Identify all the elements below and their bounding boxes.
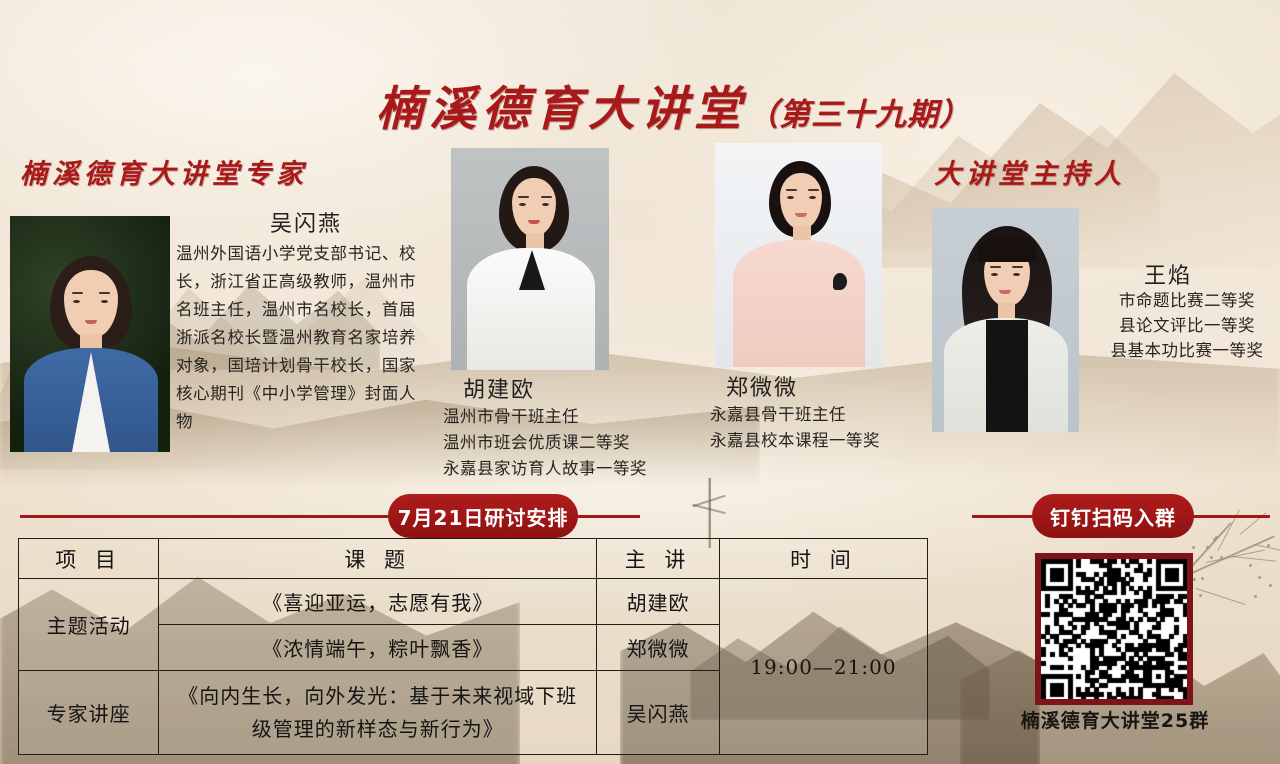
cell-item: 主题活动 [19,579,159,671]
cell-item: 专家讲座 [19,671,159,755]
qr-caption: 楠溪德育大讲堂25群 [990,706,1240,733]
cell-speaker: 郑微微 [597,625,720,671]
qr-banner-label: 钉钉扫码入群 [1032,494,1194,538]
credential-line: 温州市班会优质课二等奖 [443,430,693,456]
credential-line: 永嘉县校本课程一等奖 [710,428,940,454]
speaker-1-credentials: 温州市骨干班主任 温州市班会优质课二等奖 永嘉县家访育人故事一等奖 [443,404,693,482]
section-title-host: 大讲堂主持人 [934,152,1126,191]
credential-line: 温州市骨干班主任 [443,404,693,430]
table-header-row: 项 目 课 题 主 讲 时 间 [19,539,928,579]
host-name: 王焰 [1144,258,1192,290]
avatar-host [932,208,1079,432]
speaker-2-credentials: 永嘉县骨干班主任 永嘉县校本课程一等奖 [710,402,940,454]
schedule-table: 项 目 课 题 主 讲 时 间 主题活动 《喜迎亚运，志愿有我》 胡建欧 19:… [18,538,928,755]
qr-banner: 钉钉扫码入群 [960,494,1280,538]
page-title: 楠溪德育大讲堂（第三十九期） [376,70,1196,136]
avatar-expert [10,216,170,452]
credential-line: 县论文评比一等奖 [1094,313,1280,338]
cell-topic: 《向内生长，向外发光：基于未来视域下班级管理的新样态与新行为》 [159,671,597,755]
avatar-speaker-1 [451,148,609,370]
avatar-speaker-2 [715,143,882,367]
cell-topic: 《喜迎亚运，志愿有我》 [159,579,597,625]
section-title-expert: 楠溪德育大讲堂专家 [20,152,308,191]
credential-line: 永嘉县骨干班主任 [710,402,940,428]
qr-code-image[interactable] [1041,559,1187,699]
expert-name: 吴闪燕 [270,206,342,238]
header-item: 项 目 [19,539,159,579]
cell-speaker: 胡建欧 [597,579,720,625]
main-title-episode: （第三十九期） [747,97,971,133]
cell-time: 19:00—21:00 [719,579,927,755]
credential-line: 县基本功比赛一等奖 [1094,338,1280,363]
credential-line: 永嘉县家访育人故事一等奖 [443,456,693,482]
banner-rule-left [20,515,420,518]
schedule-banner-label: 7月21日研讨安排 [388,494,578,538]
main-title-text: 楠溪德育大讲堂 [376,82,747,137]
expert-bio: 温州外国语小学党支部书记、校长，浙江省正高级教师，温州市名班主任，温州市名校长，… [176,240,416,436]
host-credentials: 市命题比赛二等奖 县论文评比一等奖 县基本功比赛一等奖 [1094,288,1280,363]
cell-topic: 《浓情端午，粽叶飘香》 [159,625,597,671]
poster-canvas: 楠溪德育大讲堂（第三十九期） 楠溪德育大讲堂专家 大讲堂主持人 [0,0,1280,764]
schedule-banner: 7月21日研讨安排 [0,494,660,538]
speaker-2-name: 郑微微 [726,370,798,402]
header-speaker: 主 讲 [597,539,720,579]
table-row: 主题活动 《喜迎亚运，志愿有我》 胡建欧 19:00—21:00 [19,579,928,625]
qr-code-frame [1035,553,1193,705]
credential-line: 市命题比赛二等奖 [1094,288,1280,313]
cell-speaker: 吴闪燕 [597,671,720,755]
header-time: 时 间 [719,539,927,579]
speaker-1-name: 胡建欧 [463,372,535,404]
header-topic: 课 题 [159,539,597,579]
